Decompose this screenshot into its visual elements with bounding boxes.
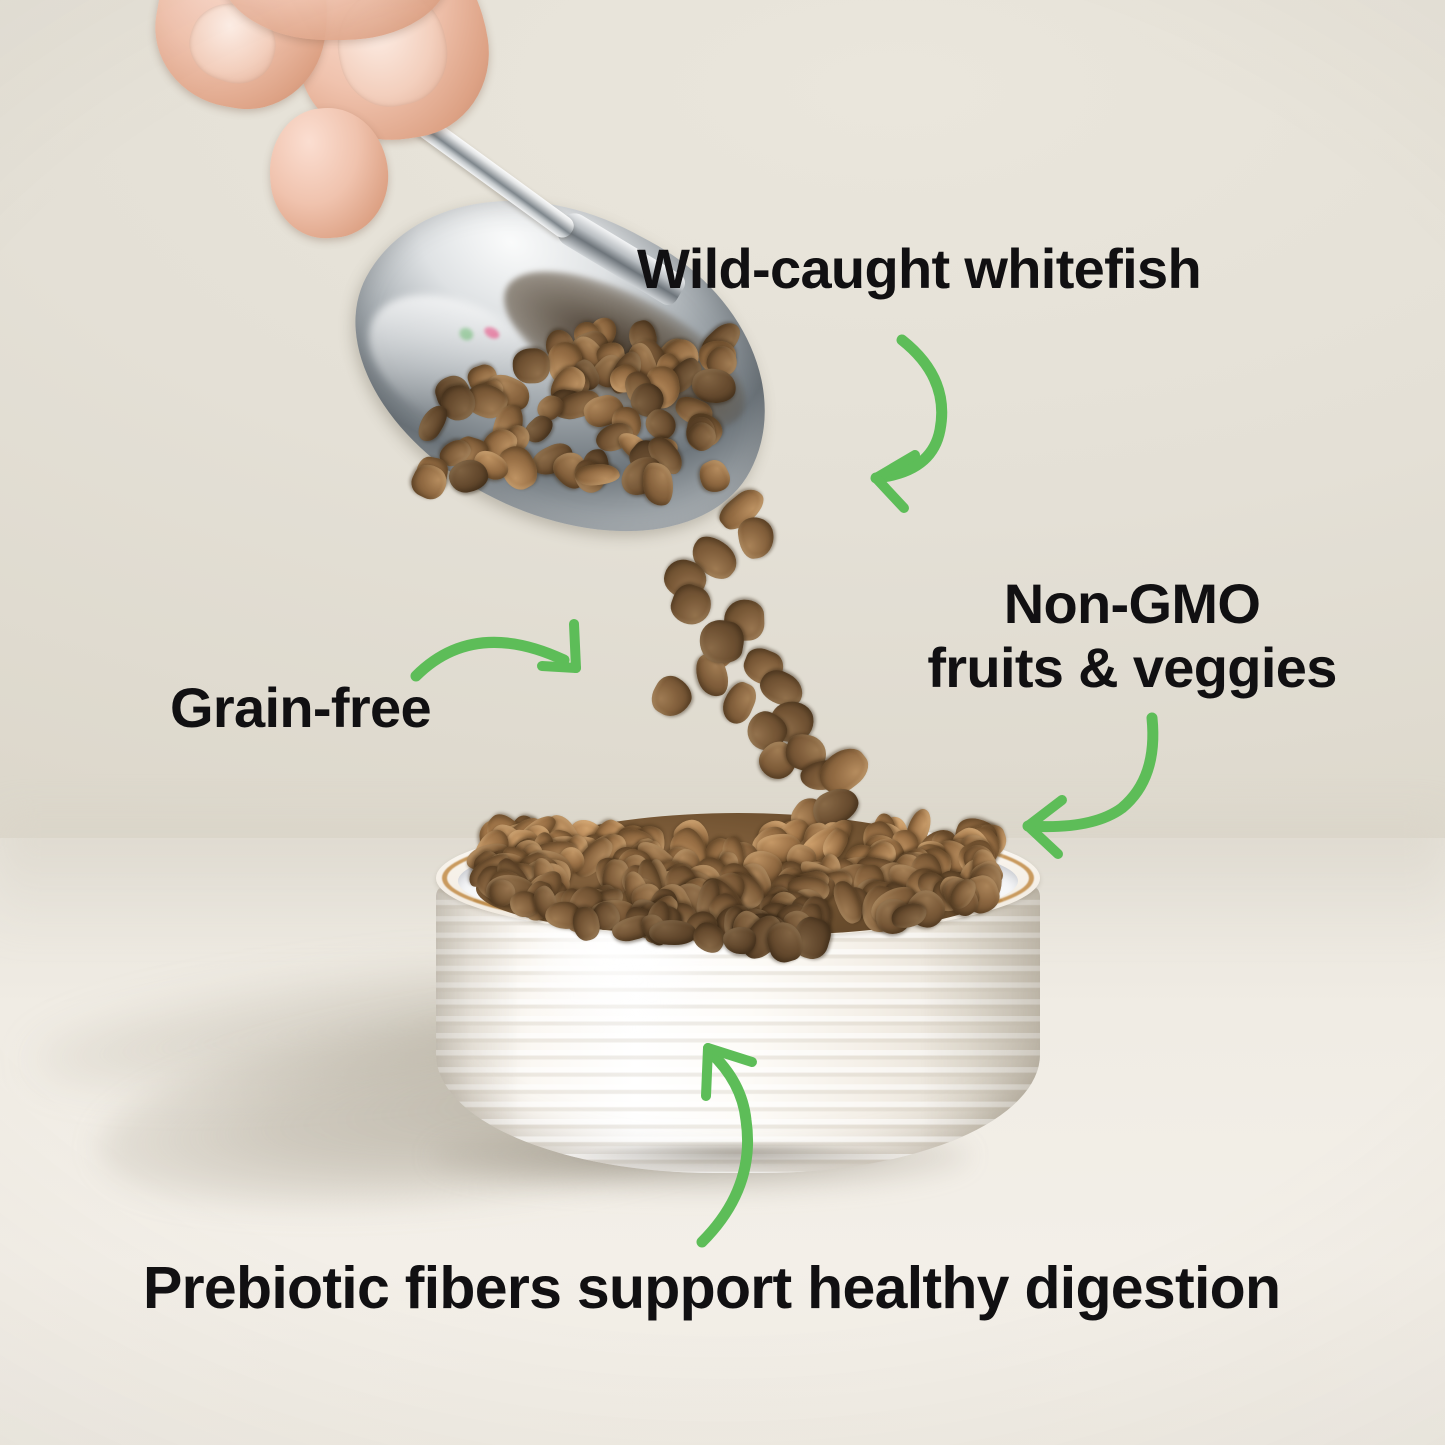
kibble-piece	[513, 348, 550, 384]
arrow-to-whitefish	[780, 320, 980, 510]
kibble-piece	[649, 919, 696, 945]
arrow-to-grain-free	[398, 604, 618, 714]
kibble-piece	[693, 456, 734, 498]
callout-non-gmo-fruits-veggies: Non-GMO fruits & veggies	[902, 572, 1362, 700]
kibble-in-bowl	[476, 813, 1000, 935]
kibble-in-scoop	[410, 320, 740, 500]
arrow-to-prebiotic	[660, 1020, 820, 1255]
callout-wild-caught-whitefish: Wild-caught whitefish	[637, 237, 1201, 301]
callout-prebiotic-fibers: Prebiotic fibers support healthy digesti…	[143, 1255, 1280, 1322]
arrow-to-non-gmo	[1000, 700, 1200, 860]
callout-grain-free: Grain-free	[170, 676, 431, 740]
product-feature-image: Wild-caught whitefish Non-GMO fruits & v…	[0, 0, 1445, 1445]
